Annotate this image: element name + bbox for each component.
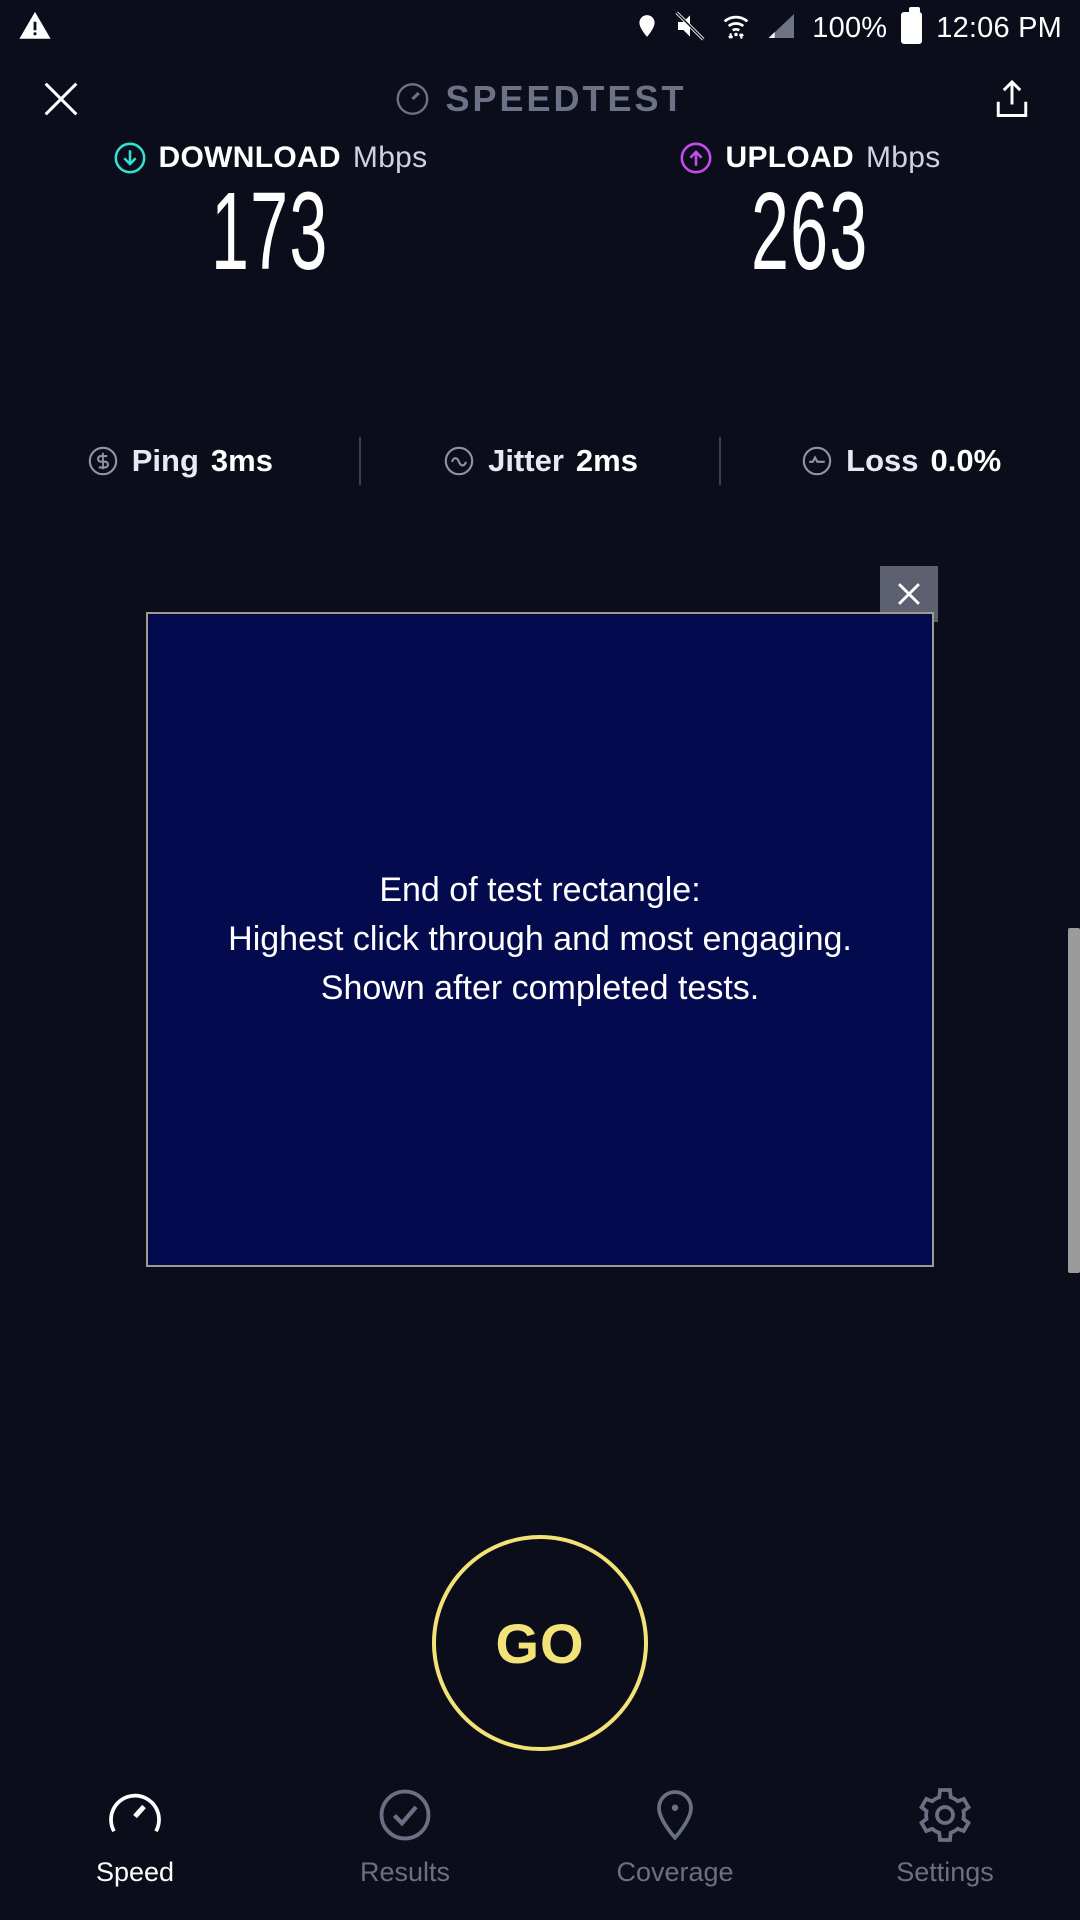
metric-loss-value: 0.0% [931,443,1002,479]
download-unit: Mbps [353,141,428,175]
metric-ping-label: Ping [132,443,199,479]
battery-full-icon [901,12,922,44]
loss-icon [800,444,834,478]
status-bar-right: 100% 12:06 PM [634,10,1062,47]
ad-line-2: Highest click through and most engaging. [228,915,852,964]
rate-row: DOWNLOAD Mbps 173 UPLOAD Mbps 263 [0,141,1080,289]
ping-icon [86,444,120,478]
brand-title: SPEEDTEST [393,78,686,120]
ad-line-1: End of test rectangle: [228,866,852,915]
volume-mute-icon [674,10,706,47]
battery-percent-label: 100% [812,12,887,45]
location-pin-icon [634,10,660,47]
metric-loss: Loss 0.0% [721,443,1080,479]
go-button[interactable]: GO [432,1535,648,1751]
nav-item-settings-label: Settings [896,1857,994,1888]
nav-item-results-label: Results [360,1857,450,1888]
ad-line-3: Shown after completed tests. [228,964,852,1013]
status-bar-left [18,9,52,48]
wifi-icon [720,10,752,47]
bottom-navigation: Speed Results Coverage Settings [0,1775,1080,1920]
speedometer-icon [393,80,431,118]
metric-ping-value: 3ms [211,443,273,479]
ad-text: End of test rectangle: Highest click thr… [228,866,852,1014]
nav-item-speed[interactable]: Speed [0,1785,270,1888]
close-x-icon [892,577,926,611]
nav-item-coverage[interactable]: Coverage [540,1785,810,1888]
download-value: 173 [211,177,329,287]
speedometer-icon [105,1785,165,1845]
upload-value: 263 [751,177,869,287]
location-pin-icon [645,1785,705,1845]
cellular-signal-icon [766,10,798,47]
go-button-label: GO [495,1611,584,1676]
jitter-icon [442,444,476,478]
upload-value-wrap: 263 [540,177,1080,289]
gear-icon [915,1785,975,1845]
page-title: SPEEDTEST [445,78,686,120]
clock-label: 12:06 PM [936,12,1062,45]
upload-arrow-icon [679,141,713,175]
results-summary: DOWNLOAD Mbps 173 UPLOAD Mbps 263 [0,141,1080,289]
upload-unit: Mbps [866,141,941,175]
download-result: DOWNLOAD Mbps 173 [0,141,540,289]
nav-item-speed-label: Speed [96,1857,174,1888]
check-circle-icon [375,1785,435,1845]
nav-item-settings[interactable]: Settings [810,1785,1080,1888]
download-value-wrap: 173 [0,177,540,289]
metrics-row: Ping 3ms Jitter 2ms Loss 0.0% [0,437,1080,485]
share-button[interactable] [986,72,1038,126]
share-upload-icon [990,76,1034,122]
metric-jitter-label: Jitter [488,443,564,479]
close-x-icon [38,76,84,122]
metric-jitter-value: 2ms [576,443,638,479]
ad-banner[interactable]: End of test rectangle: Highest click thr… [146,612,934,1267]
speedtest-app: 100% 12:06 PM SPEEDTEST [0,0,1080,1920]
status-bar: 100% 12:06 PM [0,0,1080,56]
nav-item-results[interactable]: Results [270,1785,540,1888]
metric-loss-label: Loss [846,443,918,479]
upload-result: UPLOAD Mbps 263 [540,141,1080,289]
download-arrow-icon [113,141,147,175]
app-header: SPEEDTEST [0,56,1080,141]
scrollbar[interactable] [1068,928,1080,1273]
close-button[interactable] [34,72,88,126]
metric-ping: Ping 3ms [0,443,359,479]
warning-triangle-icon [18,9,52,48]
nav-item-coverage-label: Coverage [616,1857,733,1888]
metric-jitter: Jitter 2ms [361,443,720,479]
